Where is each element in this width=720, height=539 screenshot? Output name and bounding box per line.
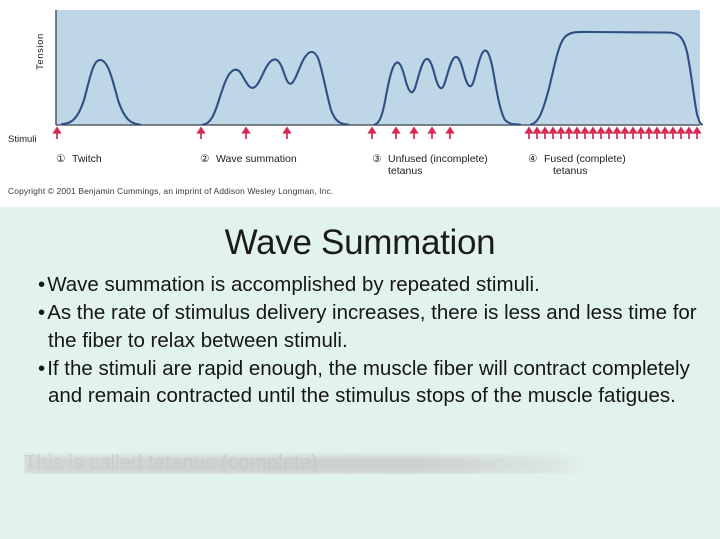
list-item: As the rate of stimulus delivery increas… (38, 299, 706, 354)
caption-twitch: ① Twitch (56, 153, 102, 165)
redaction-smudge (24, 456, 584, 474)
obscured-list-item: This is called tetanus (complete) (24, 452, 584, 474)
stimuli-arrows-fused-tetanus (526, 128, 700, 139)
caption-number-4: ④ (528, 153, 538, 165)
plot-background (56, 10, 700, 125)
tension-vs-time-chart: Tension (0, 0, 720, 207)
list-item: Wave summation is accomplished by repeat… (38, 271, 706, 298)
list-item: If the stimuli are rapid enough, the mus… (38, 355, 706, 410)
muscle-tension-figure: Tension (0, 0, 720, 207)
copyright-notice: Copyright © 2001 Benjamin Cummings, an i… (8, 186, 333, 196)
caption-wave-summation: ② Wave summation (200, 153, 297, 165)
slide-content-panel: Wave Summation Wave summation is accompl… (0, 207, 720, 539)
stimuli-axis-label: Stimuli (8, 134, 37, 145)
caption-text-3-line2: tetanus (388, 165, 422, 177)
caption-text-2: Wave summation (216, 153, 297, 165)
caption-text-3-line1: Unfused (incomplete) (388, 153, 488, 165)
caption-number-3: ③ (372, 153, 382, 165)
caption-text-4-line1: Fused (complete) (544, 153, 626, 165)
stimuli-arrows-twitch (54, 128, 60, 139)
caption-text-1: Twitch (72, 153, 102, 165)
caption-fused-tetanus: ④ Fused (complete) tetanus (528, 153, 626, 177)
caption-unfused-tetanus: ③ Unfused (incomplete) tetanus (372, 153, 488, 177)
caption-number-1: ① (56, 153, 66, 165)
stimuli-arrows-wave-summation (198, 128, 290, 139)
bullet-list: Wave summation is accomplished by repeat… (0, 271, 720, 409)
page-title: Wave Summation (0, 223, 720, 263)
caption-number-2: ② (200, 153, 210, 165)
caption-text-4-line2: tetanus (553, 165, 587, 177)
y-axis-label: Tension (35, 33, 46, 70)
stimuli-arrows-unfused-tetanus (369, 128, 453, 139)
